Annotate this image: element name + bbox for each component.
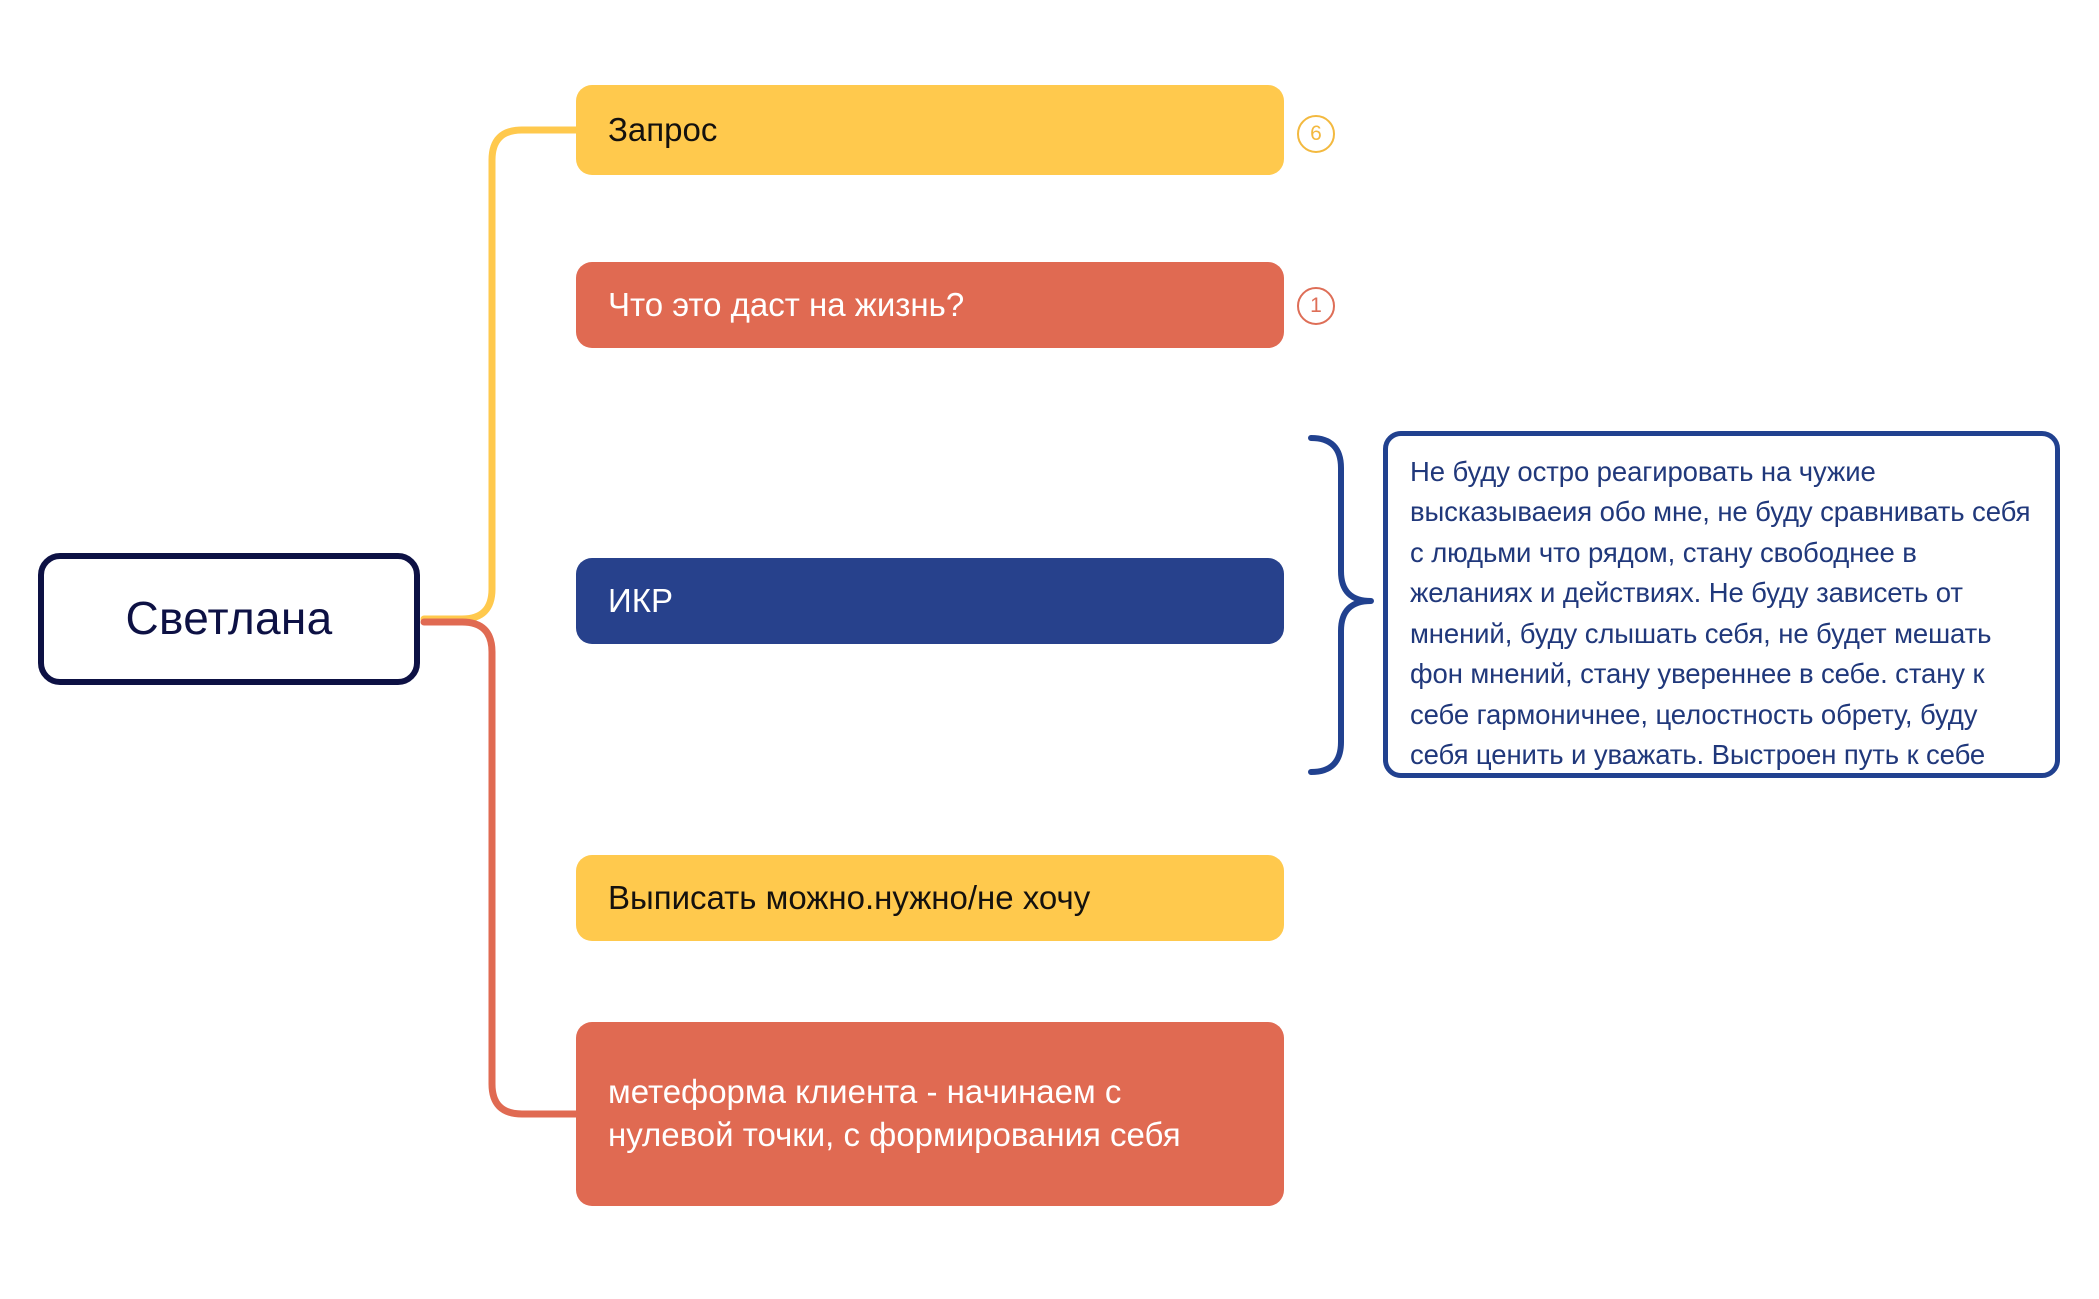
badge-count-zapros[interactable]: 6 bbox=[1297, 115, 1335, 153]
connector-navy-bracket bbox=[1311, 438, 1371, 772]
root-node-svetlana[interactable]: Светлана bbox=[38, 553, 420, 685]
branch-node-zapros[interactable]: Запрос bbox=[576, 85, 1284, 175]
branch-node-chto-eto-dast[interactable]: Что это даст на жизнь? bbox=[576, 262, 1284, 348]
branch-node-metaforma-label: метеформа клиента - начинаем с нулевой т… bbox=[608, 1071, 1252, 1157]
branch-node-ikr-label: ИКР bbox=[608, 580, 673, 623]
mindmap-canvas: Светлана Запрос 6 Что это даст на жизнь?… bbox=[0, 0, 2099, 1299]
branch-node-chto-eto-dast-label: Что это даст на жизнь? bbox=[608, 284, 964, 327]
branch-node-ikr[interactable]: ИКР bbox=[576, 558, 1284, 644]
detail-note-ikr-text: Не буду остро реагировать на чужие выска… bbox=[1410, 452, 2037, 775]
branch-node-vypisat[interactable]: Выписать можно.нужно/не хочу bbox=[576, 855, 1284, 941]
branch-node-zapros-label: Запрос bbox=[608, 109, 717, 152]
detail-note-ikr[interactable]: Не буду остро реагировать на чужие выска… bbox=[1383, 431, 2060, 778]
badge-count-chto-eto-dast[interactable]: 1 bbox=[1297, 287, 1335, 325]
branch-node-vypisat-label: Выписать можно.нужно/не хочу bbox=[608, 877, 1090, 920]
connector-coral-lower bbox=[424, 622, 576, 1114]
badge-count-zapros-value: 6 bbox=[1310, 122, 1322, 146]
badge-count-chto-eto-dast-value: 1 bbox=[1310, 294, 1322, 318]
connector-yellow-upper bbox=[424, 130, 576, 619]
branch-node-metaforma[interactable]: метеформа клиента - начинаем с нулевой т… bbox=[576, 1022, 1284, 1206]
root-node-label: Светлана bbox=[125, 589, 332, 649]
